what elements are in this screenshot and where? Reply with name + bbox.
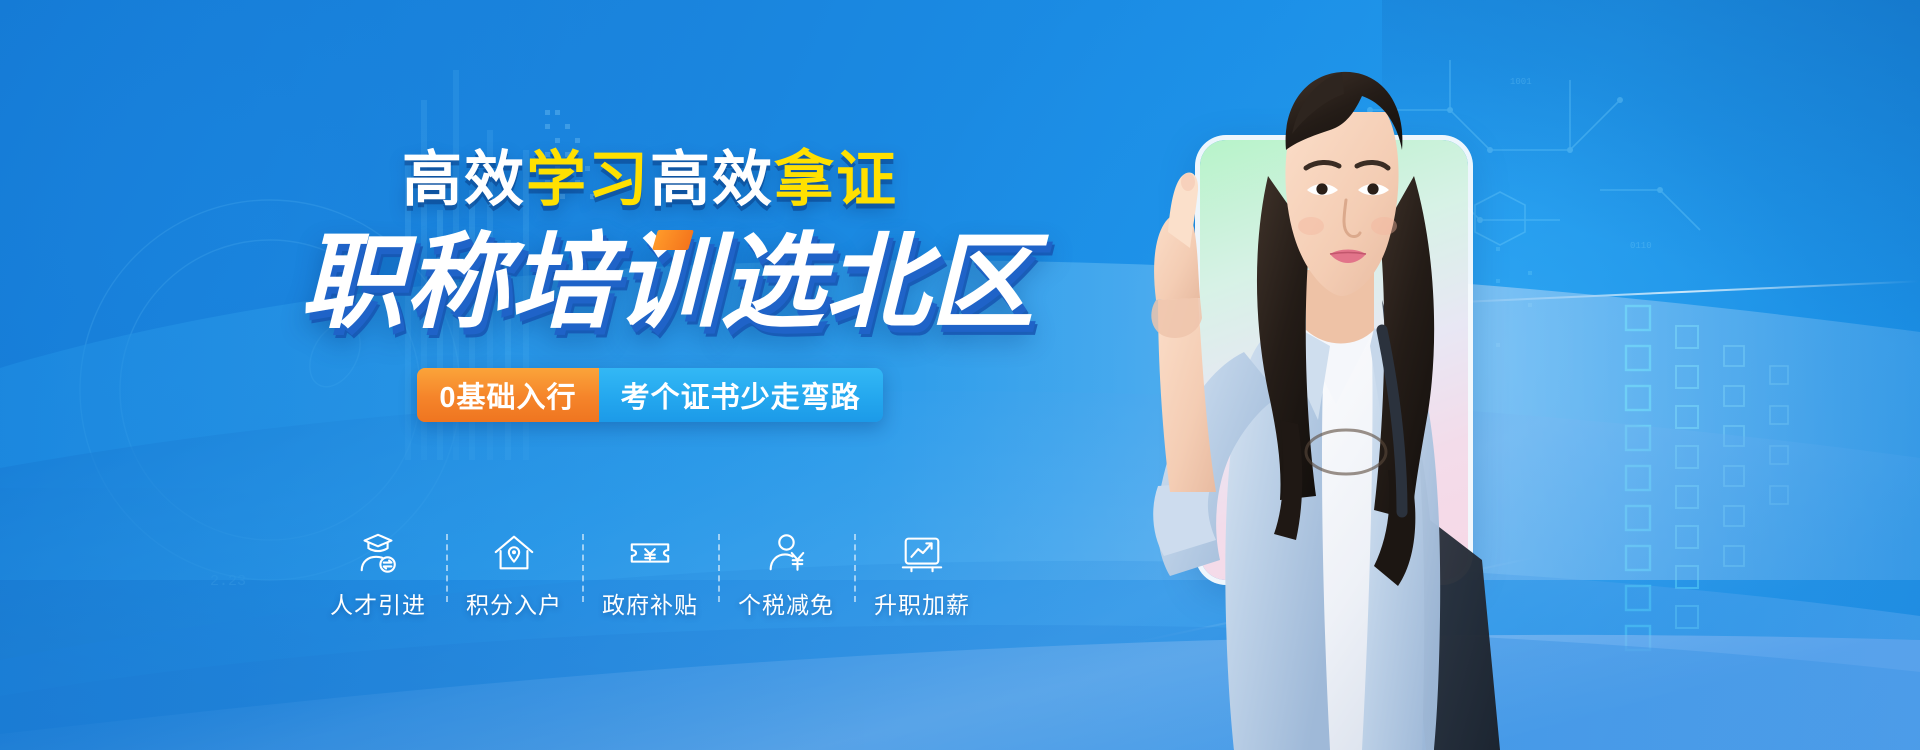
feature-item-points-residency[interactable]: 积分入户 <box>446 530 582 620</box>
subtitle-part-3: 高效 <box>650 146 774 213</box>
woman-pointing-up-illustration <box>1030 0 1670 750</box>
graduate-person-icon <box>355 530 401 576</box>
feature-list: 人才引进 积分入户 政府补贴 <box>300 530 1000 620</box>
house-pin-icon <box>491 530 537 576</box>
feature-item-talent-intro[interactable]: 人才引进 <box>310 530 446 620</box>
feature-label: 积分入户 <box>466 586 562 620</box>
feature-item-government-subsidy[interactable]: 政府补贴 <box>582 530 718 620</box>
subtitle-part-4: 拿证 <box>774 146 898 213</box>
person-yuan-icon <box>763 530 809 576</box>
badge-right-label: 考个证书少走弯路 <box>599 368 883 422</box>
headline: 职称培训选北区 <box>300 228 1000 338</box>
svg-text:2.23: 2.23 <box>210 573 246 590</box>
copy-block: 高效学习高效拿证 职称培训选北区 0基础入行 考个证书少走弯路 <box>300 150 1000 422</box>
feature-label: 升职加薪 <box>874 586 970 620</box>
feature-item-promotion-raise[interactable]: 升职加薪 <box>854 530 990 620</box>
orange-accent-mark <box>652 230 694 250</box>
ticket-yuan-icon <box>627 530 673 576</box>
badge-left-label: 0基础入行 <box>417 368 598 422</box>
subtitle-part-1: 高效 <box>402 146 526 213</box>
feature-label: 政府补贴 <box>602 586 698 620</box>
hero-figure <box>1030 0 1670 750</box>
promo-banner: 0101101001 0110101101 2.23 <box>0 0 1920 750</box>
feature-item-tax-reduction[interactable]: 个税减免 <box>718 530 854 620</box>
chart-board-icon <box>899 530 945 576</box>
feature-label: 人才引进 <box>330 586 426 620</box>
tagline-badge: 0基础入行 考个证书少走弯路 <box>417 368 882 422</box>
feature-label: 个税减免 <box>738 586 834 620</box>
subtitle: 高效学习高效拿证 <box>300 150 1000 210</box>
subtitle-part-2: 学习 <box>526 146 650 213</box>
